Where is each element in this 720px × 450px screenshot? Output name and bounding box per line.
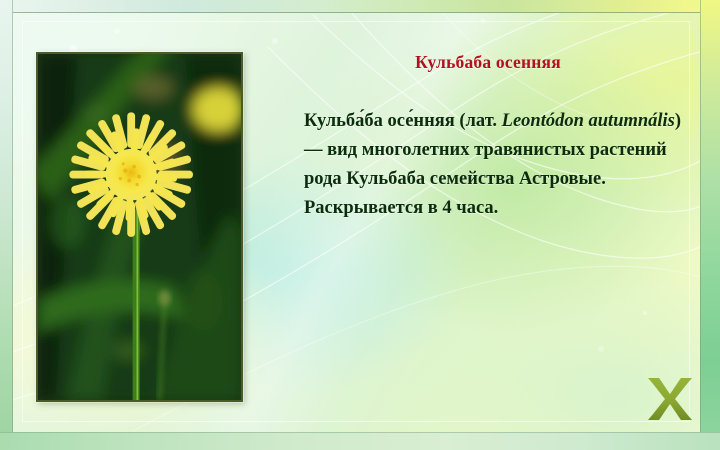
slide-canvas: Кульбаба осенняя Кульба́ба осе́нняя (лат… (0, 0, 720, 450)
frame-band-top (0, 0, 720, 13)
close-x-icon-glyph (644, 376, 696, 422)
flower-photo (36, 52, 243, 402)
close-x-icon[interactable] (644, 376, 696, 422)
body-segment-intro: Кульба́ба осе́нняя (лат. (304, 111, 502, 131)
slide-body-text: Кульба́ба осе́нняя (лат. Leontódon autum… (304, 107, 690, 223)
slide-title: Кульбаба осенняя (288, 52, 688, 72)
frame-band-left (0, 0, 13, 450)
flower-photo-image (38, 54, 241, 400)
frame-band-bottom (0, 432, 720, 450)
frame-band-right (700, 0, 720, 450)
body-segment-latin-name: Leontódon autumnális (502, 111, 675, 131)
